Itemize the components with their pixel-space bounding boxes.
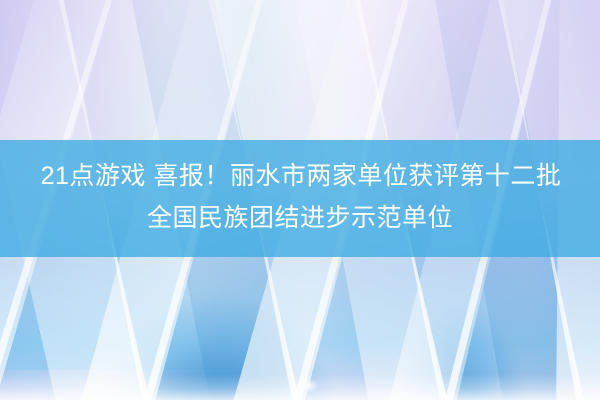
- caption-line-2: 全国民族团结进步示范单位: [147, 198, 453, 238]
- banner-image: 21点游戏 喜报！丽水市两家单位获评第十二批 全国民族团结进步示范单位: [0, 0, 600, 400]
- caption-banner: 21点游戏 喜报！丽水市两家单位获评第十二批 全国民族团结进步示范单位: [0, 140, 600, 257]
- caption-line-1: 21点游戏 喜报！丽水市两家单位获评第十二批: [39, 156, 562, 196]
- sparkle-highlight: [296, 376, 322, 392]
